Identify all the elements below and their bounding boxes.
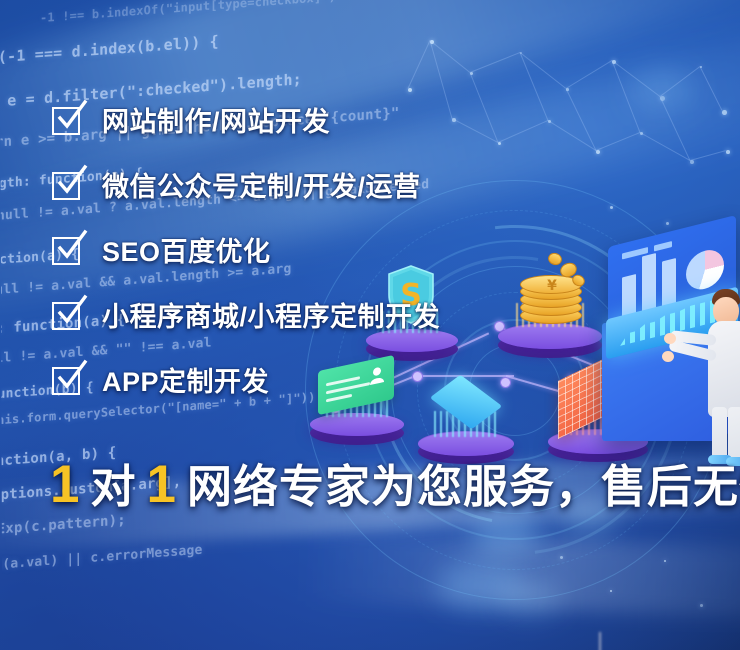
feature-label: APP定制开发 — [102, 360, 269, 399]
particle-dot — [408, 88, 412, 92]
particle-dot — [700, 604, 703, 607]
isometric-data-platform-illustration: S ¥ — [300, 255, 740, 465]
feature-item[interactable]: 小程序商城/小程序定制开发 — [52, 295, 440, 334]
background-code-line: d = new RegExp(c.pattern); — [0, 512, 126, 544]
feature-item[interactable]: 微信公众号定制/开发/运营 — [52, 165, 421, 204]
particle-link — [690, 150, 726, 161]
particle-dot — [726, 150, 730, 154]
headline-number-first: 1 — [50, 455, 80, 514]
background-code-line: -1 !== b.indexOf("input[type=checkbox]") — [40, 0, 336, 25]
headline-middle-word: 对 — [90, 461, 136, 512]
feature-item[interactable]: SEO百度优化 — [52, 230, 271, 269]
checkbox-checked-icon — [52, 104, 83, 135]
background-code-line: return d.test(a.val) || c.errorMessage — [0, 543, 202, 580]
particle-link — [498, 120, 548, 143]
background-code-line: if (-1 === d.index(b.el)) { — [0, 32, 219, 68]
connection-node — [500, 377, 511, 388]
particle-link — [470, 72, 499, 142]
feature-item[interactable]: APP定制开发 — [52, 360, 269, 399]
particle-dot — [666, 222, 669, 225]
particle-link — [408, 40, 431, 88]
coin-stack-icon: ¥ — [514, 261, 590, 331]
feature-label: 小程序商城/小程序定制开发 — [102, 295, 440, 334]
feature-label: 网站制作/网站开发 — [102, 100, 330, 139]
connection-node — [412, 371, 423, 382]
headline-number-second: 1 — [147, 455, 177, 514]
svg-text:¥: ¥ — [547, 278, 557, 294]
promo-banner: .prop("checked", !0)-1 !== b.indexOf("in… — [0, 0, 740, 650]
feature-label: 微信公众号定制/开发/运营 — [102, 165, 421, 204]
kiosk-pie-chart — [686, 246, 724, 293]
particle-link — [596, 132, 640, 151]
technician-person — [698, 289, 740, 465]
checkbox-checked-icon — [52, 234, 83, 265]
headline: 1对1网络专家为您服务，售后无忧! — [50, 450, 740, 515]
particle-link — [430, 40, 471, 73]
particle-link — [452, 118, 498, 143]
feature-label: SEO百度优化 — [102, 230, 271, 269]
headline-rest-text: 网络专家为您服务，售后无忧! — [187, 461, 740, 512]
particle-link — [700, 66, 723, 110]
checkbox-checked-icon — [52, 364, 83, 395]
connection-line — [418, 375, 514, 377]
particle-link — [470, 52, 520, 73]
particle-dot — [722, 110, 727, 115]
lens-sparkle — [535, 632, 665, 650]
particle-link — [430, 40, 453, 118]
checkbox-checked-icon — [52, 299, 83, 330]
checkbox-checked-icon — [52, 169, 83, 200]
feature-item[interactable]: 网站制作/网站开发 — [52, 100, 330, 139]
particle-link — [566, 60, 613, 89]
